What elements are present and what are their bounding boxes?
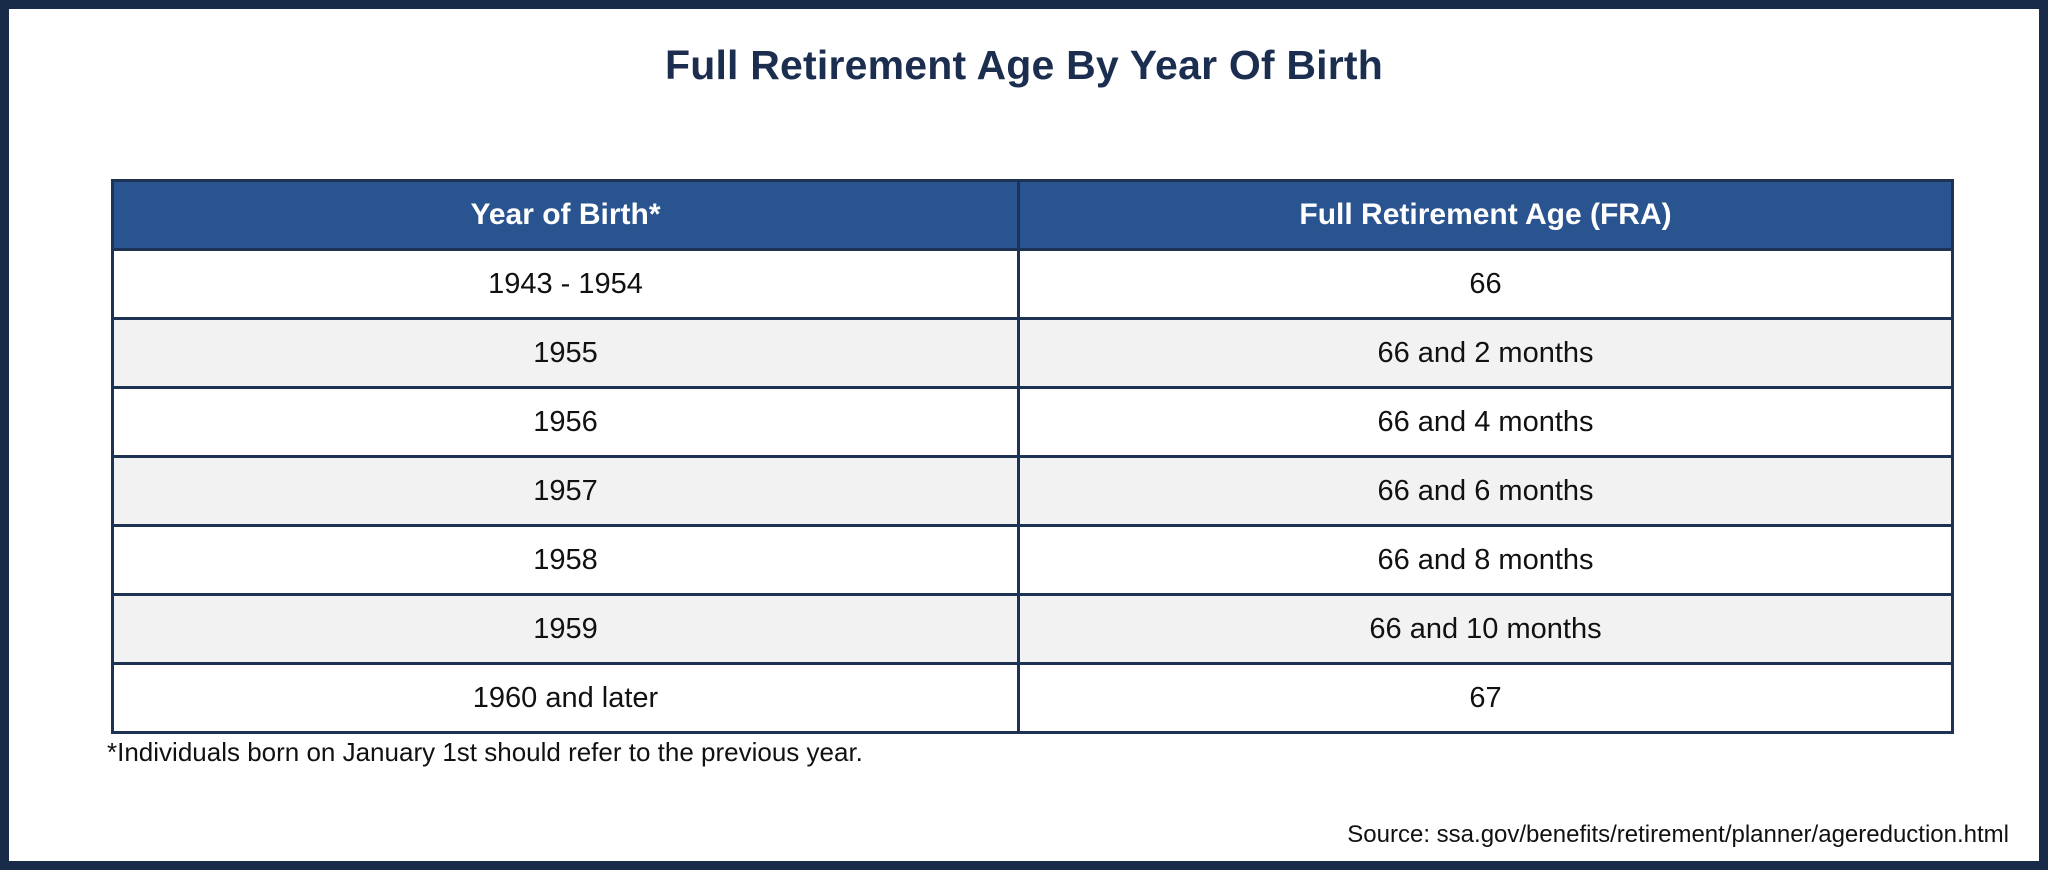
table-row: 1959 66 and 10 months bbox=[113, 595, 1953, 664]
cell-full-retirement-age: 66 and 4 months bbox=[1019, 388, 1953, 457]
source-attribution: Source: ssa.gov/benefits/retirement/plan… bbox=[1347, 821, 2009, 849]
table-footnote: *Individuals born on January 1st should … bbox=[107, 737, 863, 768]
column-header-full-retirement-age: Full Retirement Age (FRA) bbox=[1019, 181, 1953, 250]
table-row: 1957 66 and 6 months bbox=[113, 457, 1953, 526]
cell-full-retirement-age: 66 and 2 months bbox=[1019, 319, 1953, 388]
header-row: Year of Birth* Full Retirement Age (FRA) bbox=[113, 181, 1953, 250]
retirement-age-table: Year of Birth* Full Retirement Age (FRA)… bbox=[111, 179, 1954, 734]
table-row: 1958 66 and 8 months bbox=[113, 526, 1953, 595]
table-body: 1943 - 1954 66 1955 66 and 2 months 1956… bbox=[113, 250, 1953, 733]
infographic-page: Full Retirement Age By Year Of Birth Yea… bbox=[0, 0, 2048, 870]
table-row: 1960 and later 67 bbox=[113, 664, 1953, 733]
table-row: 1955 66 and 2 months bbox=[113, 319, 1953, 388]
table-header: Year of Birth* Full Retirement Age (FRA) bbox=[113, 181, 1953, 250]
cell-full-retirement-age: 66 and 6 months bbox=[1019, 457, 1953, 526]
cell-year-of-birth: 1955 bbox=[113, 319, 1019, 388]
table-row: 1956 66 and 4 months bbox=[113, 388, 1953, 457]
cell-year-of-birth: 1958 bbox=[113, 526, 1019, 595]
cell-full-retirement-age: 67 bbox=[1019, 664, 1953, 733]
column-header-year-of-birth: Year of Birth* bbox=[113, 181, 1019, 250]
cell-year-of-birth: 1959 bbox=[113, 595, 1019, 664]
cell-full-retirement-age: 66 bbox=[1019, 250, 1953, 319]
cell-year-of-birth: 1943 - 1954 bbox=[113, 250, 1019, 319]
cell-year-of-birth: 1956 bbox=[113, 388, 1019, 457]
cell-year-of-birth: 1957 bbox=[113, 457, 1019, 526]
cell-year-of-birth: 1960 and later bbox=[113, 664, 1019, 733]
table-row: 1943 - 1954 66 bbox=[113, 250, 1953, 319]
page-title: Full Retirement Age By Year Of Birth bbox=[9, 42, 2039, 89]
cell-full-retirement-age: 66 and 10 months bbox=[1019, 595, 1953, 664]
cell-full-retirement-age: 66 and 8 months bbox=[1019, 526, 1953, 595]
page-inner: Full Retirement Age By Year Of Birth Yea… bbox=[9, 9, 2039, 861]
table-container: Year of Birth* Full Retirement Age (FRA)… bbox=[111, 179, 1954, 734]
